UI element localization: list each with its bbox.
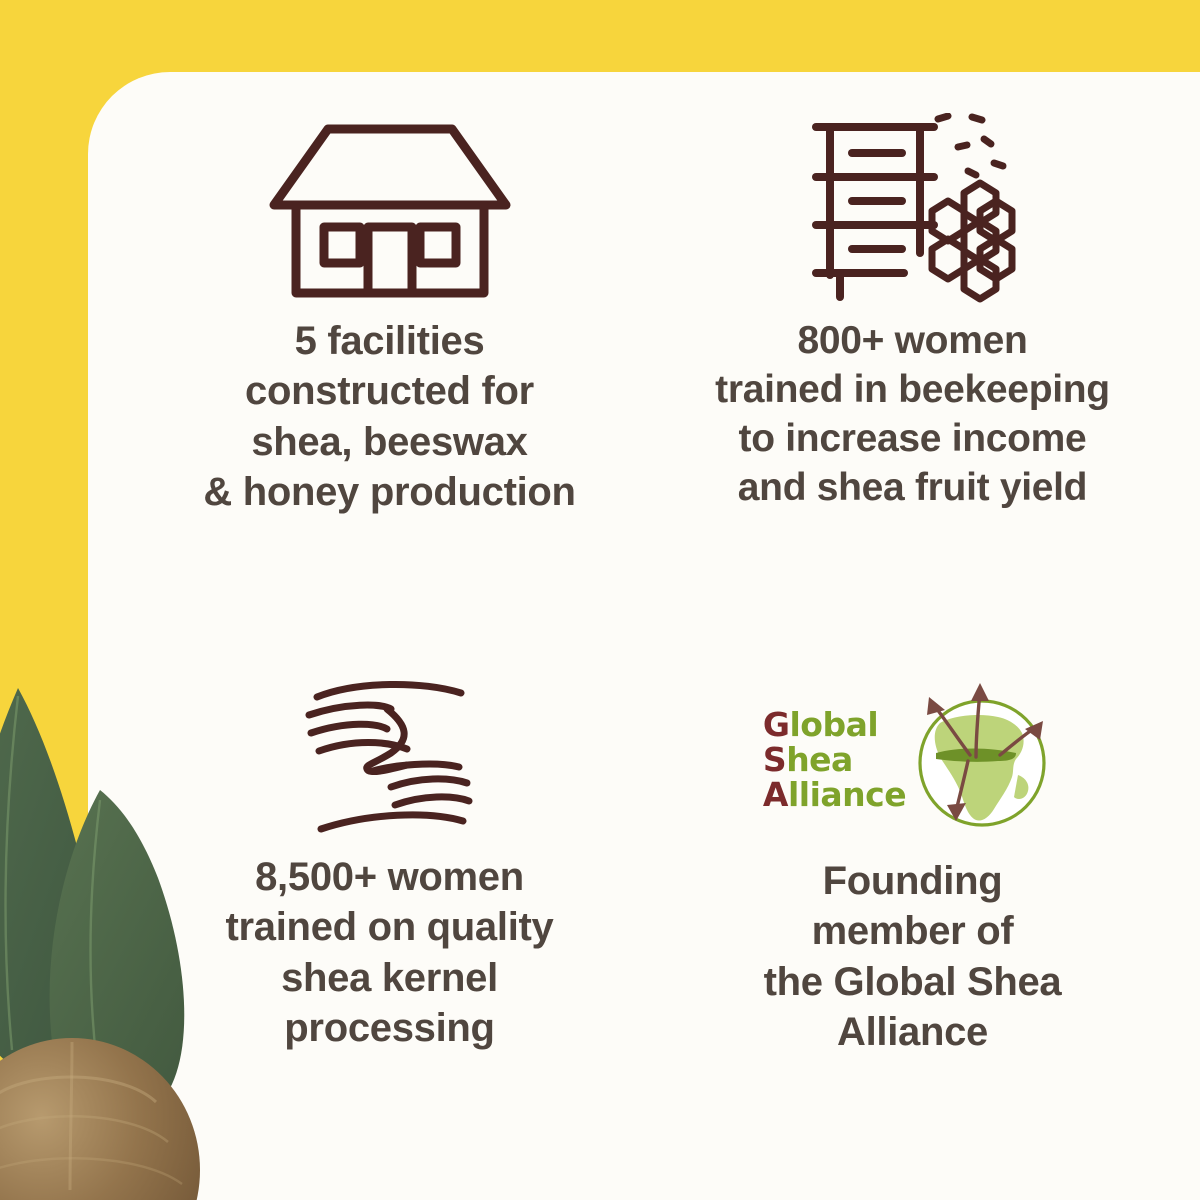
gsa-initial-a: A <box>763 775 788 814</box>
gsa-initial-g: G <box>763 705 790 744</box>
gsa-rest-lliance: lliance <box>788 775 906 814</box>
stat-card-facilities: 5 facilities constructed for shea, beesw… <box>128 106 651 648</box>
gsa-rest-lobal: lobal <box>790 705 879 744</box>
stat-card-beekeeping: 800+ women trained in beekeeping to incr… <box>651 106 1174 648</box>
gsa-wordmark: Global Shea Alliance <box>763 707 906 812</box>
gsa-logo-lockup: Global Shea Alliance <box>763 679 1062 839</box>
stat-card-kernel-processing: 8,500+ women trained on quality shea ker… <box>128 648 651 1190</box>
stat-label-beekeeping: 800+ women trained in beekeeping to incr… <box>715 316 1110 513</box>
stat-label-gsa-member: Founding member of the Global Shea Allia… <box>764 856 1062 1058</box>
gsa-initial-s: S <box>763 740 786 779</box>
stat-label-kernel-processing: 8,500+ women trained on quality shea ker… <box>226 852 554 1054</box>
global-shea-alliance-logo: Global Shea Alliance <box>763 666 1062 852</box>
stat-card-gsa-member: Global Shea Alliance <box>651 648 1174 1190</box>
house-icon <box>266 106 514 316</box>
hands-icon <box>295 666 485 852</box>
stats-grid: 5 facilities constructed for shea, beesw… <box>88 72 1200 1200</box>
beehive-honeycomb-icon <box>808 106 1018 316</box>
gsa-globe-africa-graphic <box>902 679 1062 839</box>
gsa-line-shea: Shea <box>763 742 906 777</box>
gsa-line-alliance: Alliance <box>763 777 906 812</box>
gsa-line-global: Global <box>763 707 906 742</box>
stat-label-facilities: 5 facilities constructed for shea, beesw… <box>203 316 575 518</box>
gsa-rest-hea: hea <box>786 740 853 779</box>
